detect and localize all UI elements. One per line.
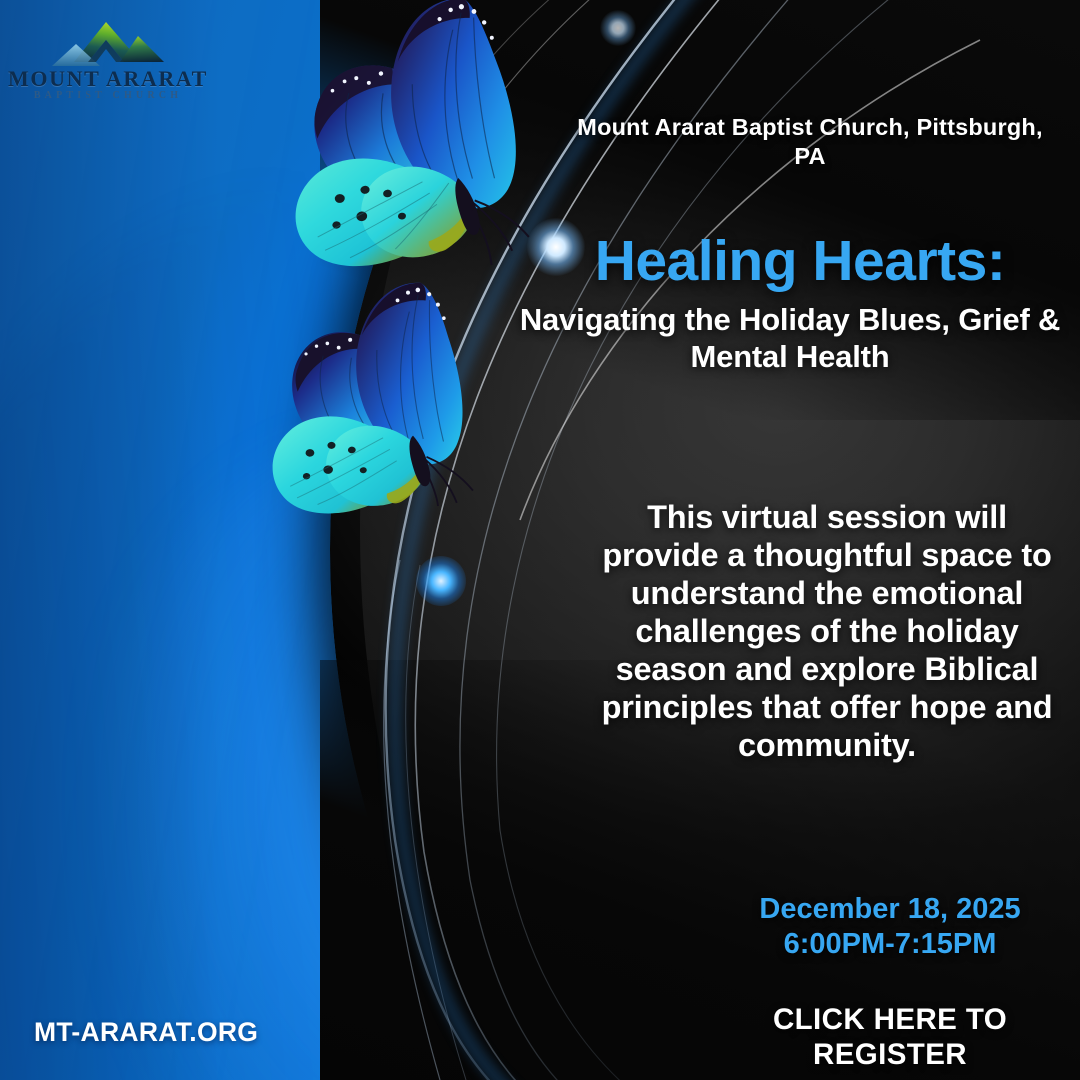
event-title: Healing Hearts: <box>520 232 1080 290</box>
website-link[interactable]: MT-ARARAT.ORG <box>34 1017 354 1048</box>
event-datetime: December 18, 2025 6:00PM-7:15PM <box>700 892 1080 963</box>
event-subtitle: Navigating the Holiday Blues, Grief & Me… <box>500 302 1080 375</box>
organization-line: Mount Ararat Baptist Church, Pittsburgh,… <box>560 113 1060 170</box>
logo-wordmark: MOUNT ARARAT <box>8 66 208 92</box>
logo-tagline: BAPTIST CHURCH <box>8 90 208 101</box>
mountain-peaks-icon <box>8 14 208 74</box>
event-date: December 18, 2025 <box>700 892 1080 927</box>
event-time: 6:00PM-7:15PM <box>700 927 1080 962</box>
church-logo: MOUNT ARARAT BAPTIST CHURCH <box>8 14 208 106</box>
register-button[interactable]: CLICK HERE TO REGISTER <box>700 1002 1080 1073</box>
event-flyer: MOUNT ARARAT BAPTIST CHURCH Mount Ararat… <box>0 0 1080 1080</box>
event-description: This virtual session will provide a thou… <box>588 498 1066 764</box>
butterfly-icon <box>250 270 506 518</box>
